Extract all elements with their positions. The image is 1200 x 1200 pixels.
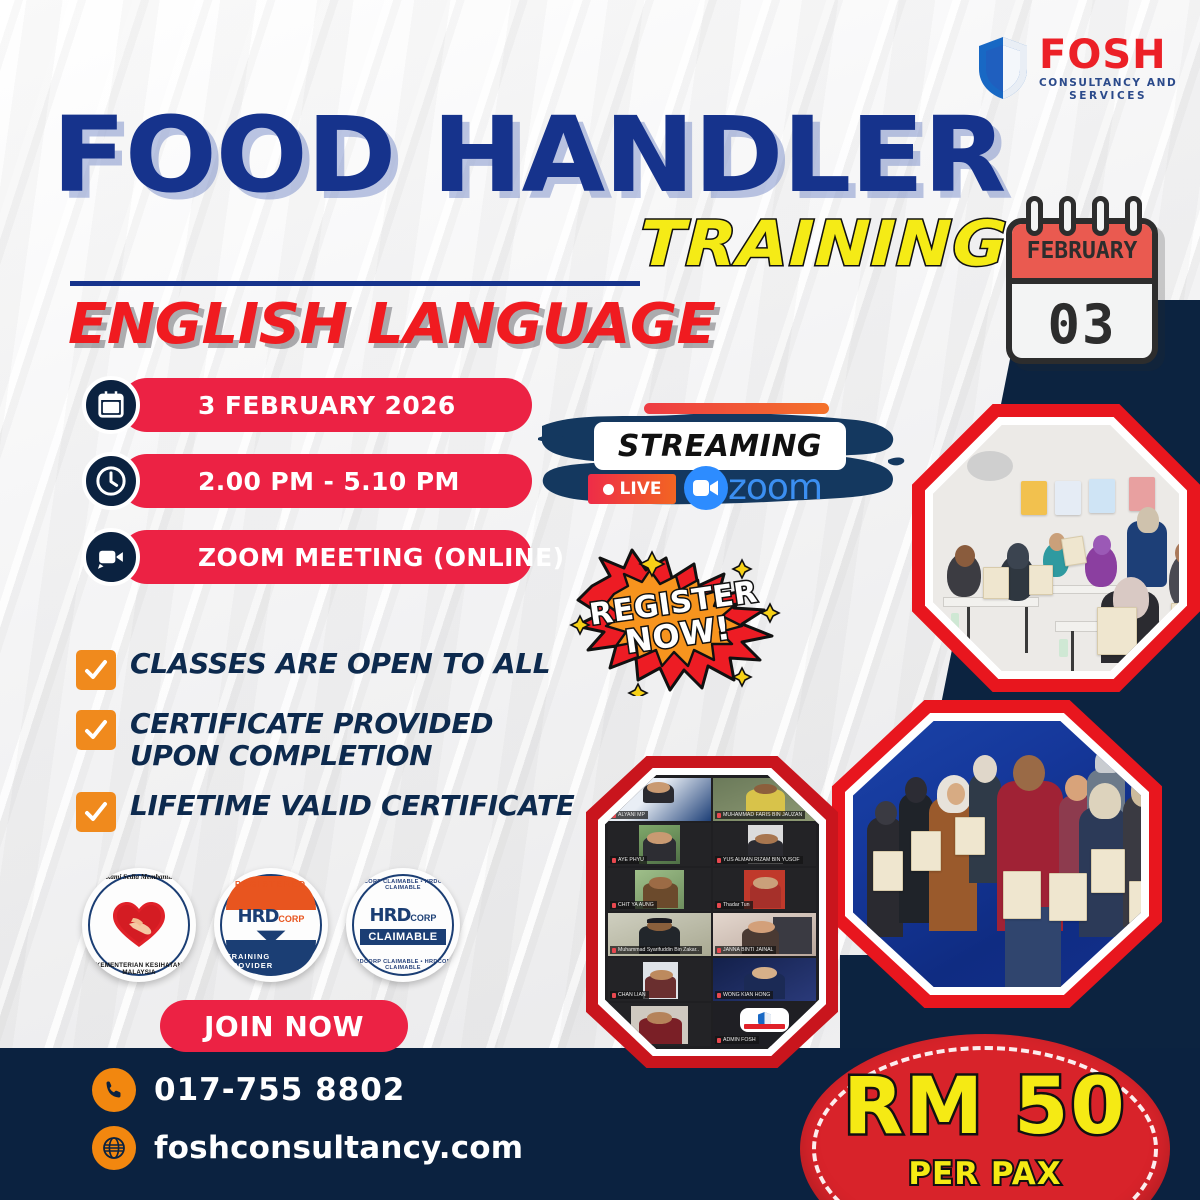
shield-icon — [975, 35, 1031, 101]
event-details-list: 3 FEBRUARY 2026 2.00 PM - 5.10 PM ZOOM M… — [82, 378, 532, 606]
join-now-button[interactable]: JOIN NOW — [160, 1000, 408, 1052]
participant-name: AYE PHYU — [610, 856, 647, 864]
zoom-participant-tile: Thadar Tun — [713, 868, 816, 911]
logo-wordmark: FOSH — [1039, 35, 1177, 75]
claimable-label: CLAIMABLE — [360, 929, 445, 945]
claimable-arc-top: HRDCORP CLAIMABLE • HRDCORP CLAIMABLE — [346, 879, 460, 891]
register-now-burst[interactable]: REGISTER NOW! — [566, 546, 786, 696]
zoom-logo: zoom — [684, 466, 822, 510]
streaming-title-box: STREAMING — [594, 422, 846, 470]
calendar-icon — [82, 376, 140, 434]
calendar-rings — [1026, 196, 1142, 236]
zoom-camera-icon — [684, 466, 728, 510]
detail-platform-label: ZOOM MEETING (ONLINE) — [198, 543, 564, 572]
zoom-participant-tile: Muhammad Syarifuddin Bin Zakar.. — [608, 913, 711, 956]
live-label: LIVE — [620, 479, 662, 499]
hrd-corp-text: CORP — [278, 914, 304, 924]
feature-item: LIFETIME VALID CERTIFICATE — [76, 790, 596, 832]
title-divider — [70, 281, 640, 286]
live-dot-icon — [603, 484, 614, 495]
streaming-accent-bar — [644, 403, 829, 414]
feature-label: LIFETIME VALID CERTIFICATE — [130, 790, 574, 822]
participant-name: MUHAMMAD FARIS BIN JAUZAN — [715, 811, 805, 819]
contact-row-website[interactable]: foshconsultancy.com — [92, 1126, 523, 1170]
kkm-bottom-text: KEMENTERIAN KESIHATAN MALAYSIA — [82, 962, 196, 976]
participant-name: CHIT YA AUNG — [610, 901, 657, 909]
website-url: foshconsultancy.com — [154, 1130, 523, 1166]
brand-logo[interactable]: FOSH CONSULTANCY AND SERVICES — [975, 28, 1180, 108]
subtitle-language: ENGLISH LANGUAGE — [68, 292, 716, 357]
checkmark-icon — [76, 792, 116, 832]
feature-label: CERTIFICATE PROVIDED UPON COMPLETION — [130, 708, 550, 772]
heart-hand-icon — [111, 900, 167, 950]
zoom-participant-cells: ALYANI MP MUHAMMAD FARIS BIN JAUZAN AYE … — [605, 775, 819, 1049]
checkmark-icon — [76, 650, 116, 690]
zoom-participant-tile: JANNA BINTI JAINAL — [713, 913, 816, 956]
detail-date-label: 3 FEBRUARY 2026 — [198, 391, 456, 420]
zoom-participant-tile: YUS ALMAN RIZAM BIN YUSOF — [713, 823, 816, 866]
participant-name: CHAN LIAN — [610, 991, 649, 999]
globe-icon — [92, 1126, 136, 1170]
calendar-day: 03 — [1012, 284, 1152, 364]
contact-row-phone[interactable]: 017-755 8802 — [92, 1068, 523, 1112]
group-photo — [832, 700, 1162, 1008]
participant-name: JANNA BINTI JAINAL — [715, 946, 776, 954]
accreditation-badges: Kami Sedia Membantu KEMENTERIAN KESIHATA… — [82, 868, 460, 982]
phone-icon — [92, 1068, 136, 1112]
features-list: CLASSES ARE OPEN TO ALL CERTIFICATE PROV… — [76, 648, 596, 850]
zoom-meeting-grid: ALYANI MP MUHAMMAD FARIS BIN JAUZAN AYE … — [586, 756, 838, 1068]
feature-item: CERTIFICATE PROVIDED UPON COMPLETION — [76, 708, 596, 772]
logo-tagline-1: CONSULTANCY AND — [1039, 78, 1177, 89]
detail-row-platform: ZOOM MEETING (ONLINE) — [82, 530, 532, 584]
feature-item: CLASSES ARE OPEN TO ALL — [76, 648, 596, 690]
hrd-registered-arc-bottom: TRAINING PROVIDER — [226, 952, 316, 970]
burst-shape — [566, 546, 786, 696]
streaming-badge: STREAMING LIVE zoom — [536, 398, 906, 524]
price-amount: RM 50 — [800, 1068, 1170, 1146]
kkm-badge: Kami Sedia Membantu KEMENTERIAN KESIHATA… — [82, 868, 196, 982]
page-title: FOOD HANDLER — [52, 108, 1009, 204]
detail-time-label: 2.00 PM - 5.10 PM — [198, 467, 460, 496]
hrd-logo-text: HRD — [370, 905, 411, 926]
zoom-participant-tile: CHIT YA AUNG — [608, 868, 711, 911]
phone-number: 017-755 8802 — [154, 1072, 405, 1108]
kkm-top-text: Kami Sedia Membantu — [82, 873, 196, 881]
hrdcorp-claimable-badge: HRDCORP CLAIMABLE • HRDCORP CLAIMABLE HR… — [346, 868, 460, 982]
classroom-scene — [933, 425, 1179, 671]
zoom-participant-tile: WONG KIAN HONG — [713, 958, 816, 1001]
feature-label: CLASSES ARE OPEN TO ALL — [130, 648, 550, 680]
calendar-month: FEBRUARY — [1027, 238, 1138, 264]
checkmark-icon — [76, 710, 116, 750]
streaming-title: STREAMING — [618, 429, 822, 464]
detail-row-time: 2.00 PM - 5.10 PM — [82, 454, 532, 508]
participant-name: YUS ALMAN RIZAM BIN YUSOF — [715, 856, 803, 864]
price-badge: RM 50 PER PAX — [800, 1034, 1200, 1200]
participant-name: Thadar Tun — [715, 901, 753, 909]
calendar-icon: FEBRUARY 03 — [1002, 196, 1168, 368]
classroom-photo — [912, 404, 1200, 692]
title-badge-training: TRAINING — [639, 207, 1009, 280]
video-camera-icon — [82, 528, 140, 586]
clock-icon — [82, 452, 140, 510]
hrd-registered-arc-top: REGISTERED — [235, 880, 307, 889]
hrd-corp-text: CORP — [410, 913, 436, 923]
hrd-chevron-icon — [254, 929, 288, 945]
participant-name: Muhammad Syarifuddin Bin Zakar.. — [610, 946, 702, 954]
group-scene — [853, 721, 1141, 987]
zoom-wordmark: zoom — [728, 470, 822, 506]
claimable-arc-bottom: HRDCORP CLAIMABLE • HRDCORP CLAIMABLE — [346, 959, 460, 971]
price-unit: PER PAX — [800, 1156, 1170, 1192]
zoom-participant-tile: CHAN LIAN — [608, 958, 711, 1001]
contact-info: 017-755 8802 foshconsultancy.com — [92, 1068, 523, 1184]
zoom-participant-tile: AYE PHYU — [608, 823, 711, 866]
detail-row-date: 3 FEBRUARY 2026 — [82, 378, 532, 432]
poster-root: FOSH CONSULTANCY AND SERVICES FOOD HANDL… — [0, 0, 1200, 1200]
participant-name: WONG KIAN HONG — [715, 991, 773, 999]
live-badge: LIVE — [588, 474, 676, 504]
hrd-logo-text: HRD — [238, 906, 279, 927]
participant-name: ADMIN FOSH — [715, 1036, 759, 1044]
hrdcorp-registered-badge: REGISTERED TRAINING PROVIDER HRD CORP — [214, 868, 328, 982]
logo-tagline-2: SERVICES — [1039, 91, 1177, 102]
join-now-label: JOIN NOW — [204, 1010, 364, 1043]
